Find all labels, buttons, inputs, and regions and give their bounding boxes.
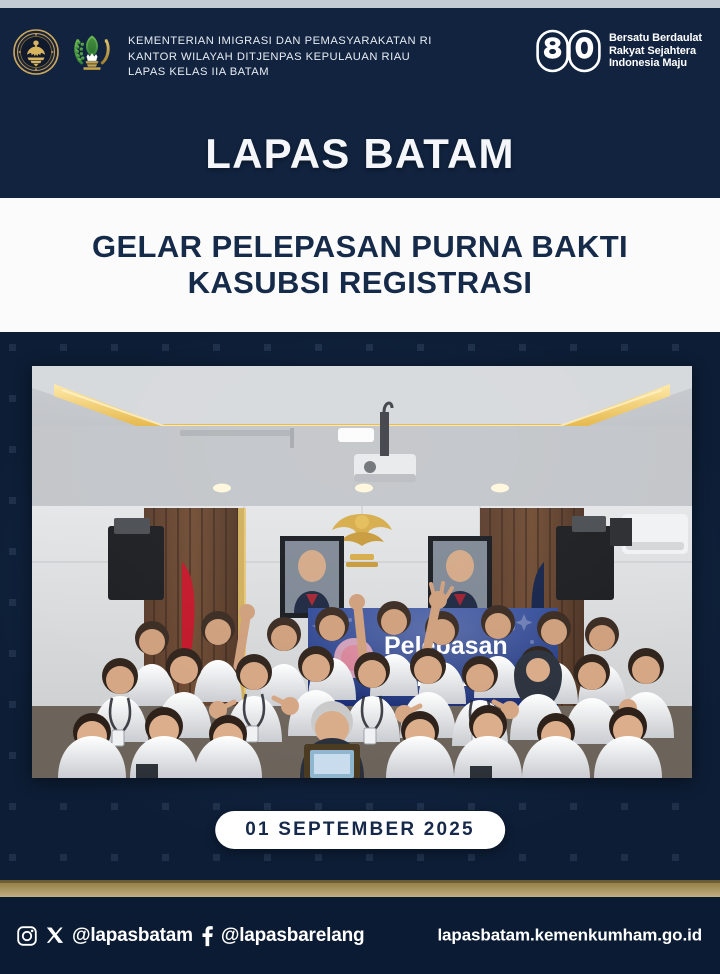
main-title-band: LAPAS BATAM	[0, 110, 720, 198]
website-url-text[interactable]: lapasbatam.kemenkumham.go.id	[437, 925, 702, 944]
facebook-icon[interactable]	[200, 925, 214, 947]
handle-facebook[interactable]: @lapasbarelang	[221, 926, 365, 945]
header-line-2: KANTOR WILAYAH DITJENPAS KEPULAUAN RIAU	[128, 50, 432, 66]
date-badge-text: 01 SEPTEMBER 2025	[245, 820, 475, 839]
anniversary-tagline-1: Bersatu Berdaulat	[609, 32, 702, 45]
pengayoman-emblem	[68, 27, 116, 77]
gold-divider-shadow	[0, 880, 720, 883]
instagram-icon[interactable]	[16, 925, 38, 947]
anniversary-tagline: Bersatu Berdaulat Rakyat Sejahtera Indon…	[609, 32, 702, 70]
website-link[interactable]: lapasbatam.kemenkumham.go.id	[437, 926, 702, 945]
anniversary-tagline-3: Indonesia Maju	[609, 57, 702, 70]
poster-header: KEMENTERIAN IMIGRASI DAN PEMASYARAKATAN …	[0, 8, 720, 110]
subtitle-line-1: GELAR PELEPASAN PURNA BAKTI	[92, 229, 628, 265]
top-status-strip	[0, 0, 720, 8]
page-title: LAPAS BATAM	[205, 133, 515, 175]
eighty-mark-icon	[536, 28, 602, 74]
anniversary-tagline-2: Rakyat Sejahtera	[609, 45, 702, 58]
garuda-seal-emblem	[12, 27, 60, 77]
photo-stage: Pelepasan Purna Bakti	[0, 332, 720, 880]
poster-root: KEMENTERIAN IMIGRASI DAN PEMASYARAKATAN …	[0, 0, 720, 974]
event-photo-illustration: Pelepasan Purna Bakti	[32, 366, 692, 778]
date-badge: 01 SEPTEMBER 2025	[215, 811, 505, 849]
header-line-1: KEMENTERIAN IMIGRASI DAN PEMASYARAKATAN …	[128, 34, 432, 50]
header-emblems	[12, 27, 116, 77]
anniversary-80-logo: Bersatu Berdaulat Rakyat Sejahtera Indon…	[536, 28, 702, 74]
event-photo: Pelepasan Purna Bakti	[32, 366, 692, 778]
x-twitter-icon[interactable]	[45, 926, 65, 946]
header-line-3: LAPAS KELAS IIA BATAM	[128, 65, 432, 81]
handle-instagram-x[interactable]: @lapasbatam	[72, 926, 193, 945]
header-org-lines: KEMENTERIAN IMIGRASI DAN PEMASYARAKATAN …	[128, 34, 432, 81]
subtitle-line-2: KASUBSI REGISTRASI	[188, 265, 533, 301]
subtitle-band: GELAR PELEPASAN PURNA BAKTI KASUBSI REGI…	[0, 198, 720, 332]
social-handles: @lapasbatam @lapasbarelang	[16, 925, 364, 947]
poster-footer: @lapasbatam @lapasbarelang lapasbatam.ke…	[0, 897, 720, 974]
